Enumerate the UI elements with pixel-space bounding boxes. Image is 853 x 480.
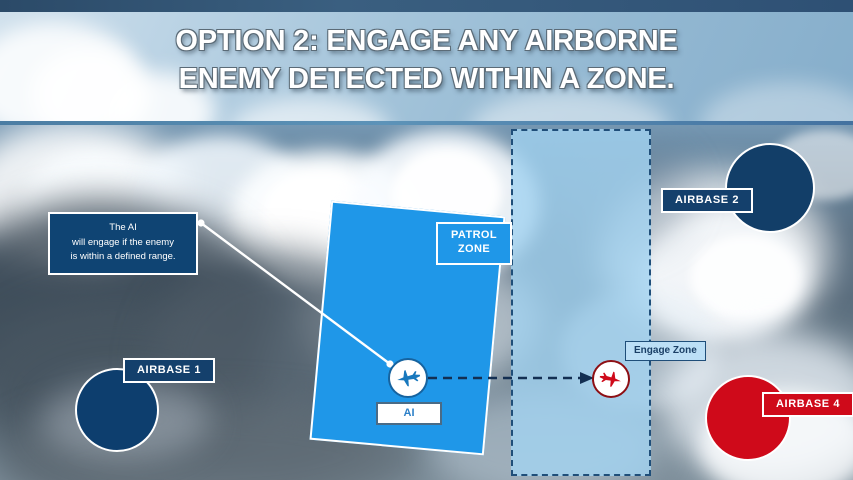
- callout-line-2: will engage if the enemy: [56, 236, 190, 251]
- ai-aircraft-marker[interactable]: [388, 358, 428, 398]
- slide-canvas: OPTION 2: ENGAGE ANY AIRBORNE ENEMY DETE…: [0, 0, 853, 480]
- airbase-4-label[interactable]: AIRBASE 4: [762, 392, 853, 417]
- page-title: OPTION 2: ENGAGE ANY AIRBORNE ENEMY DETE…: [0, 22, 853, 99]
- ai-unit-label[interactable]: AI: [376, 402, 442, 425]
- patrol-zone-label-line-2: ZONE: [451, 243, 497, 257]
- patrol-zone-label-line-1: PATROL: [451, 229, 497, 243]
- airbase-2-label[interactable]: AIRBASE 2: [661, 188, 753, 213]
- airbase-1-label[interactable]: AIRBASE 1: [123, 358, 215, 383]
- header-divider-rule: [0, 121, 853, 125]
- ai-engagement-callout: The AI will engage if the enemy is withi…: [48, 212, 198, 275]
- airbase-4-marker[interactable]: [705, 375, 791, 461]
- engage-zone-label[interactable]: Engage Zone: [625, 341, 706, 361]
- callout-line-1: The AI: [56, 221, 190, 236]
- top-accent-bar: [0, 0, 853, 12]
- fighter-jet-icon: [394, 364, 422, 392]
- enemy-aircraft-marker[interactable]: [592, 360, 630, 398]
- engage-zone-area[interactable]: [511, 129, 651, 476]
- page-title-line-2: ENEMY DETECTED WITHIN A ZONE.: [0, 60, 853, 98]
- callout-line-3: is within a defined range.: [56, 250, 190, 265]
- page-title-line-1: OPTION 2: ENGAGE ANY AIRBORNE: [0, 22, 853, 60]
- fighter-jet-icon: [598, 366, 624, 392]
- patrol-zone-label[interactable]: PATROL ZONE: [436, 222, 512, 265]
